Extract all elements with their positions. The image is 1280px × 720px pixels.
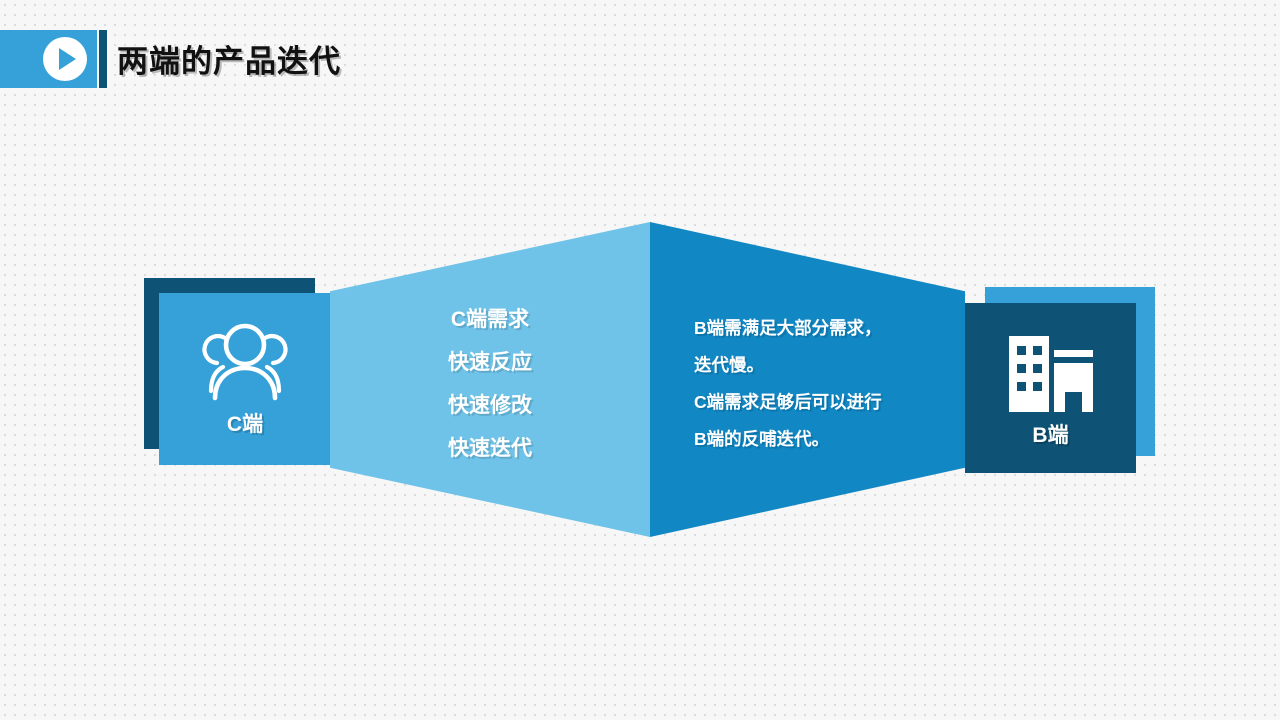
c-demand-line-4: 快速迭代 xyxy=(330,427,650,470)
b-demand-line-2: 迭代慢。 xyxy=(694,347,959,384)
b-demand-funnel-text: B端需满足大部分需求， 迭代慢。 C端需求足够后可以进行 B端的反哺迭代。 xyxy=(694,310,959,458)
c-demand-line-3: 快速修改 xyxy=(330,384,650,427)
play-triangle-icon xyxy=(59,48,76,70)
slide-canvas: 两端的产品迭代 C端 C端需求 快速反应 快速修改 快速迭代 B端需满足大部分需… xyxy=(0,0,1280,720)
people-group-icon xyxy=(193,323,297,401)
page-title: 两端的产品迭代 xyxy=(117,36,341,81)
c-side-card[interactable]: C端 xyxy=(159,293,331,465)
c-demand-line-1: C端需求 xyxy=(330,298,650,341)
b-demand-line-1: B端需满足大部分需求， xyxy=(694,310,959,347)
c-demand-line-2: 快速反应 xyxy=(330,341,650,384)
b-side-card[interactable]: B端 xyxy=(965,303,1136,473)
b-demand-line-3: C端需求足够后可以进行 xyxy=(694,384,959,421)
b-demand-line-4: B端的反哺迭代。 xyxy=(694,421,959,458)
c-demand-funnel-text: C端需求 快速反应 快速修改 快速迭代 xyxy=(330,298,650,470)
c-card-label: C端 xyxy=(159,408,331,438)
header-accent-bar xyxy=(99,30,107,88)
office-building-icon xyxy=(1007,330,1095,412)
b-card-label: B端 xyxy=(965,419,1136,449)
